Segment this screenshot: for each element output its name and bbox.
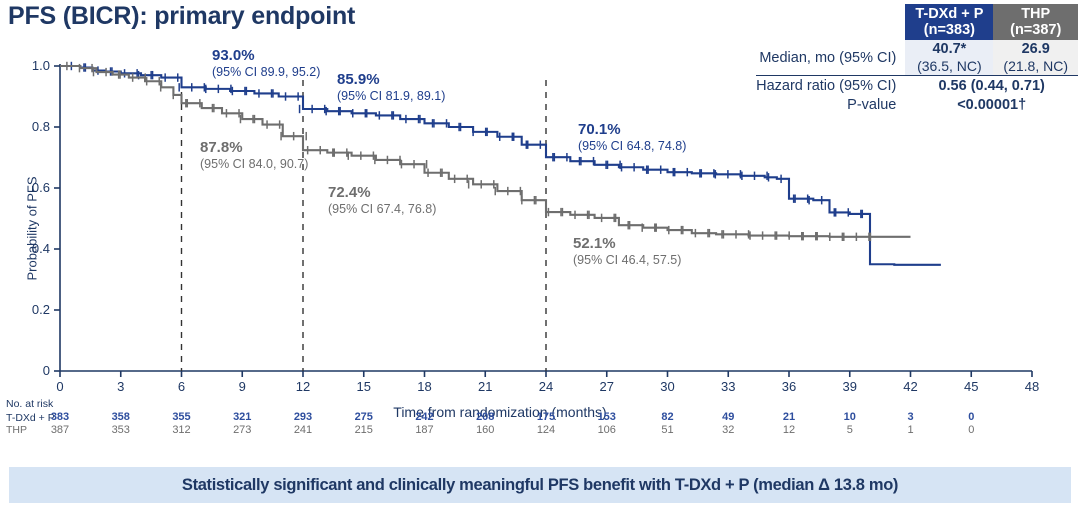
- at-risk-heading: No. at risk: [6, 398, 53, 410]
- x-axis-tick-label: 48: [1025, 379, 1039, 391]
- annotation-blue-24mo: 70.1%(95% CI 64.8, 74.8): [578, 122, 686, 153]
- at-risk-value: 275: [344, 411, 384, 423]
- at-risk-value: 49: [708, 411, 748, 423]
- at-risk-value: 353: [101, 424, 141, 436]
- at-risk-value: 242: [405, 411, 445, 423]
- annotation-blue-6mo-percent: 93.0%: [212, 48, 320, 65]
- median-ci-tdxd-p: (36.5, NC): [915, 58, 983, 74]
- x-axis-tick-label: 39: [843, 379, 857, 391]
- at-risk-value: 12: [769, 424, 809, 436]
- x-axis-tick-label: 18: [417, 379, 431, 391]
- y-axis-tick-label: 0: [43, 363, 50, 378]
- y-axis-tick-label: 1.0: [32, 58, 50, 73]
- censor-marks-thp: [67, 62, 870, 241]
- results-table: T-DXd + P (n=383) THP (n=387) Median, mo…: [756, 4, 1078, 114]
- column-header-thp-n: (n=387): [1003, 22, 1068, 38]
- x-axis-tick-label: 3: [117, 379, 124, 391]
- at-risk-row-label-thp: THP: [6, 424, 27, 436]
- annotation-blue-6mo-ci: (95% CI 89.9, 95.2): [212, 65, 320, 79]
- hazard-ratio-label: Hazard ratio (95% CI): [756, 76, 905, 96]
- at-risk-value: 21: [769, 411, 809, 423]
- at-risk-value: 10: [830, 411, 870, 423]
- annotation-blue-12mo: 85.9%(95% CI 81.9, 89.1): [337, 72, 445, 103]
- column-header-tdxd-p-n: (n=383): [915, 22, 983, 38]
- median-ci-thp: (21.8, NC): [1003, 58, 1068, 74]
- at-risk-value: 82: [648, 411, 688, 423]
- at-risk-value: 312: [162, 424, 202, 436]
- at-risk-value: 321: [222, 411, 262, 423]
- annotation-blue-12mo-ci: (95% CI 81.9, 89.1): [337, 89, 445, 103]
- page-title: PFS (BICR): primary endpoint: [8, 2, 355, 31]
- annotation-gray-6mo-ci: (95% CI 84.0, 90.7): [200, 157, 308, 171]
- at-risk-value: 355: [162, 411, 202, 423]
- at-risk-value: 160: [465, 424, 505, 436]
- at-risk-value: 215: [344, 424, 384, 436]
- x-axis-tick-label: 15: [357, 379, 371, 391]
- x-axis-tick-label: 21: [478, 379, 492, 391]
- footer-banner: Statistically significant and clinically…: [9, 467, 1071, 503]
- median-point-thp: 26.9: [1022, 41, 1050, 57]
- at-risk-value: 387: [40, 424, 80, 436]
- table-row-p-value: P-value <0.00001†: [756, 95, 1078, 114]
- x-axis-tick-label: 24: [539, 379, 553, 391]
- annotation-blue-6mo: 93.0%(95% CI 89.9, 95.2): [212, 48, 320, 79]
- p-value-value: <0.00001†: [905, 95, 1078, 114]
- table-header-row: T-DXd + P (n=383) THP (n=387): [756, 4, 1078, 40]
- annotation-gray-24mo: 52.1%(95% CI 46.4, 57.5): [573, 236, 681, 267]
- at-risk-value: 32: [708, 424, 748, 436]
- at-risk-value: 124: [526, 424, 566, 436]
- at-risk-value: 175: [526, 411, 566, 423]
- at-risk-value: 3: [891, 411, 931, 423]
- column-header-thp-name: THP: [1003, 6, 1068, 22]
- annotation-gray-6mo: 87.8%(95% CI 84.0, 90.7): [200, 140, 308, 171]
- table-row-hazard-ratio: Hazard ratio (95% CI) 0.56 (0.44, 0.71): [756, 76, 1078, 96]
- at-risk-value: 5: [830, 424, 870, 436]
- table-row-median: Median, mo (95% CI) 40.7* (36.5, NC) 26.…: [756, 40, 1078, 75]
- annotation-gray-12mo-ci: (95% CI 67.4, 76.8): [328, 202, 436, 216]
- x-axis-tick-label: 30: [660, 379, 674, 391]
- median-point-tdxd-p: 40.7*: [932, 41, 966, 57]
- x-axis-tick-label: 42: [903, 379, 917, 391]
- at-risk-value: 0: [951, 424, 991, 436]
- at-risk-value: 187: [405, 424, 445, 436]
- annotation-gray-24mo-ci: (95% CI 46.4, 57.5): [573, 253, 681, 267]
- at-risk-value: 273: [222, 424, 262, 436]
- footer-banner-text: Statistically significant and clinically…: [182, 476, 898, 495]
- at-risk-value: 208: [465, 411, 505, 423]
- header-spacer: [756, 4, 905, 40]
- x-axis-tick-label: 9: [239, 379, 246, 391]
- annotation-blue-24mo-ci: (95% CI 64.8, 74.8): [578, 139, 686, 153]
- annotation-gray-12mo: 72.4%(95% CI 67.4, 76.8): [328, 185, 436, 216]
- median-value-tdxd-p: 40.7* (36.5, NC): [905, 40, 993, 75]
- median-value-thp: 26.9 (21.8, NC): [993, 40, 1078, 75]
- at-risk-value: 358: [101, 411, 141, 423]
- hazard-ratio-value: 0.56 (0.44, 0.71): [905, 76, 1078, 96]
- at-risk-value: 106: [587, 424, 627, 436]
- x-axis-tick-label: 6: [178, 379, 185, 391]
- annotation-gray-6mo-percent: 87.8%: [200, 140, 308, 157]
- annotation-gray-24mo-percent: 52.1%: [573, 236, 681, 253]
- x-axis-tick-label: 33: [721, 379, 735, 391]
- at-risk-value: 153: [587, 411, 627, 423]
- at-risk-value: 293: [283, 411, 323, 423]
- x-axis-tick-label: 12: [296, 379, 310, 391]
- annotation-gray-12mo-percent: 72.4%: [328, 185, 436, 202]
- x-axis-tick-label: 45: [964, 379, 978, 391]
- at-risk-value: 241: [283, 424, 323, 436]
- at-risk-value: 1: [891, 424, 931, 436]
- at-risk-value: 51: [648, 424, 688, 436]
- annotation-blue-24mo-percent: 70.1%: [578, 122, 686, 139]
- median-label: Median, mo (95% CI): [756, 40, 905, 75]
- at-risk-value: 383: [40, 411, 80, 423]
- column-header-tdxd-p-name: T-DXd + P: [915, 6, 983, 22]
- x-axis-tick-label: 0: [56, 379, 63, 391]
- censor-marks-tdxd-p: [71, 62, 862, 218]
- annotation-blue-12mo-percent: 85.9%: [337, 72, 445, 89]
- at-risk-value: 0: [951, 411, 991, 423]
- column-header-tdxd-p: T-DXd + P (n=383): [905, 4, 993, 40]
- y-axis-title: Probability of PFS: [25, 129, 40, 329]
- x-axis-tick-label: 27: [600, 379, 614, 391]
- column-header-thp: THP (n=387): [993, 4, 1078, 40]
- p-value-label: P-value: [756, 95, 905, 114]
- x-axis-tick-label: 36: [782, 379, 796, 391]
